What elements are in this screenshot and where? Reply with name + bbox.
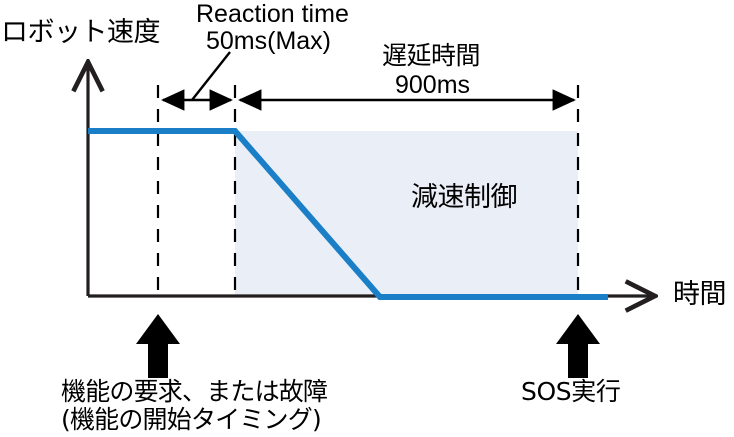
deceleration-region-label: 減速制御 — [411, 183, 517, 213]
delay-time-label-line1: 遅延時間 — [382, 42, 480, 70]
sos-up-arrow-icon — [556, 314, 600, 378]
sos-label: SOS実行 — [521, 378, 620, 406]
reaction-time-leader-line — [192, 52, 230, 100]
y-axis-label: ロボット速度 — [1, 18, 160, 48]
x-axis-label: 時間 — [673, 280, 726, 310]
trigger-up-arrow-icon — [136, 314, 180, 378]
trigger-label-line1: 機能の要求、または故障 — [61, 378, 327, 406]
diagram-canvas — [0, 0, 734, 437]
delay-time-label-line2: 900ms — [395, 71, 470, 99]
timing-diagram: ロボット速度 時間 Reaction time 50ms(Max) 遅延時間 9… — [0, 0, 734, 437]
reaction-time-label-line2: 50ms(Max) — [206, 27, 331, 55]
reaction-time-label-line1: Reaction time — [196, 0, 349, 28]
trigger-label-line2: (機能の開始タイミング) — [61, 406, 321, 434]
deceleration-region-fill — [235, 131, 578, 296]
